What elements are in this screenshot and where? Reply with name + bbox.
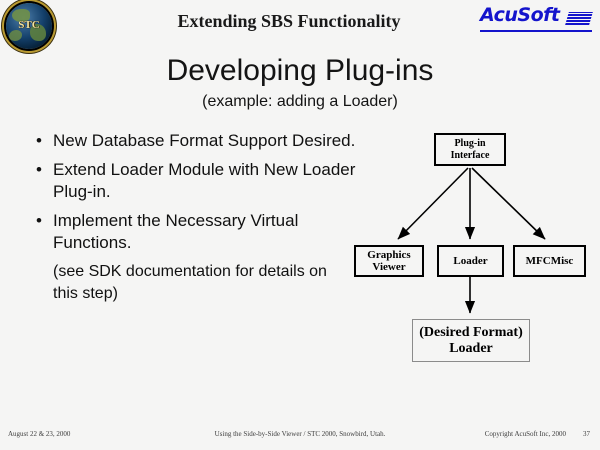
- bullet-marker-icon: •: [36, 159, 53, 181]
- page-subtitle: (example: adding a Loader): [0, 93, 600, 111]
- bullet-text: Implement the Necessary Virtual Function…: [53, 210, 356, 254]
- diagram-node-plugin-interface[interactable]: Plug-in Interface: [434, 133, 506, 166]
- bullet-marker-icon: •: [36, 130, 53, 152]
- list-item: • New Database Format Support Desired.: [36, 130, 356, 152]
- slide-footer: August 22 & 23, 2000 Using the Side-by-S…: [0, 424, 600, 450]
- list-item: • Extend Loader Module with New Loader P…: [36, 159, 356, 203]
- slide-header: STC Extending SBS Functionality AcuSoft: [0, 0, 600, 50]
- bullet-text: New Database Format Support Desired.: [53, 130, 355, 152]
- page-title: Developing Plug-ins: [0, 54, 600, 88]
- diagram-node-loader[interactable]: Loader: [437, 245, 504, 277]
- bullet-note: (see SDK documentation for details on th…: [53, 261, 356, 305]
- acusoft-underline: [480, 30, 592, 32]
- edge-interface-to-mfcmisc: [472, 168, 545, 239]
- bullet-text: Extend Loader Module with New Loader Plu…: [53, 159, 356, 203]
- diagram-node-mfcmisc[interactable]: MFCMisc: [513, 245, 586, 277]
- plugin-architecture-diagram: Plug-in Interface Graphics Viewer Loader…: [340, 125, 595, 375]
- footer-page-number: 37: [583, 430, 590, 438]
- acusoft-stripes-icon: [565, 12, 593, 25]
- acusoft-wordmark: AcuSoft: [480, 4, 560, 26]
- bullet-marker-icon: •: [36, 210, 53, 232]
- bullet-list: • New Database Format Support Desired. •…: [36, 130, 356, 305]
- acusoft-brand-logo: AcuSoft: [480, 4, 592, 38]
- edge-interface-to-graphics-viewer: [398, 168, 468, 239]
- diagram-node-graphics-viewer[interactable]: Graphics Viewer: [354, 245, 424, 277]
- list-item: • Implement the Necessary Virtual Functi…: [36, 210, 356, 254]
- footer-copyright: Copyright AcuSoft Inc, 2000: [485, 430, 566, 438]
- diagram-node-desired-format-loader[interactable]: (Desired Format) Loader: [412, 319, 530, 362]
